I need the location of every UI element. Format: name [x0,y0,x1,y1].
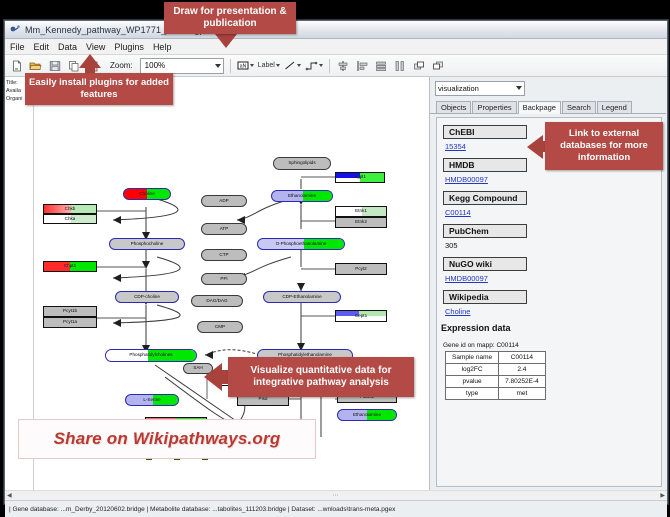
node-label: ATP [220,227,229,232]
gene-pcyt1b[interactable]: Pcyt1b [43,306,97,317]
zoom-combobox[interactable]: 100% [140,58,224,74]
node-o-phosphoethanolamine[interactable]: O-Phosphoethanolamine [257,238,345,250]
table-row: log2FC 2.4 [446,364,546,376]
db-block-kegg: Kegg Compound C00114 [443,188,661,217]
menu-item-plugins[interactable]: Plugins [114,42,144,52]
distribute-icon[interactable] [393,58,408,73]
node-cdp-choline[interactable]: CDP-choline [115,291,179,303]
menu-item-data[interactable]: Data [58,42,77,52]
node-ppi[interactable]: PPi [201,273,247,285]
node-label: CDP-choline [134,295,160,300]
node-label: CDP-Ethanolamine [282,295,321,300]
callout-external-links: Link to external databases for more info… [545,122,663,170]
db-block-nugo: NuGO wiki HMDB00097 [443,254,661,283]
node-atp[interactable]: ATP [201,223,247,235]
row-key: Sample name [446,352,499,364]
chevron-down-icon[interactable] [319,64,323,67]
menu-bar: File Edit Data View Plugins Help [5,39,667,55]
db-link-hmdb[interactable]: HMDB00097 [445,175,661,184]
db-value-pubchem: 305 [445,241,661,250]
chevron-down-icon[interactable] [516,86,522,90]
table-row: Sample name C00114 [446,352,546,364]
node-label: Pcyt1b [63,309,77,314]
callout-text: Easily install plugins for added feature… [25,77,173,101]
node-label: Pcyt2 [355,267,367,272]
db-heading: Wikipedia [443,290,527,304]
node-sphingolipids[interactable]: Sphingolipids [273,157,331,170]
menu-item-help[interactable]: Help [153,42,172,52]
callout-text: Share on Wikipathways.org [54,429,281,449]
gene-cept1[interactable]: Cept1 [335,310,387,322]
db-block-pubchem: PubChem 305 [443,221,661,250]
db-heading: PubChem [443,224,527,238]
db-link-nugo[interactable]: HMDB00097 [445,274,661,283]
gene-id-on-mapp: Gene id on mapp: C00114 [443,342,661,349]
callout-install-plugins: Easily install plugins for added feature… [25,73,173,105]
gene-pcyt2[interactable]: Pcyt2 [335,263,387,275]
node-label: Etnk2 [355,220,367,225]
send-back-icon[interactable] [431,58,446,73]
gene-etnk2[interactable]: Etnk2 [335,217,387,228]
chevron-down-icon[interactable] [250,64,254,67]
toolbar-separator [329,59,330,73]
db-heading: Kegg Compound [443,191,527,205]
node-label: ADP [219,199,228,204]
node-l-serine-mid[interactable]: L-Serine [125,394,179,406]
node-label: Chpt1 [64,264,76,269]
line-icon[interactable] [284,60,301,71]
bring-front-icon[interactable] [412,58,427,73]
node-label: Chka [65,217,76,222]
tab-legend[interactable]: Legend [597,101,632,113]
row-value: 7.80252E-4 [499,376,546,388]
node-label: Ethanolamine [288,194,316,199]
row-key: log2FC [446,364,499,376]
callout-share-wikipathways: Share on Wikipathways.org [18,419,316,459]
scroll-right-arrow[interactable]: ▶ [660,492,665,499]
gene-etnk1[interactable]: Etnk1 [335,206,387,217]
title-bar: Mm_Kennedy_pathway_WP1771_45176.gpml [5,21,667,39]
db-link-kegg[interactable]: C00114 [445,208,661,217]
chevron-down-icon[interactable] [297,64,301,67]
menu-item-edit[interactable]: Edit [34,42,50,52]
node-label: CMP [215,325,225,330]
node-label: Sgpl1 [354,175,366,180]
panel-tabs: Objects Properties Backpage Search Legen… [430,99,666,114]
gene-chkb[interactable]: Chkb [43,204,97,214]
node-label: Ethanolamine [353,413,381,418]
gene-pcyt1a[interactable]: Pcyt1a [43,317,97,328]
db-block-wikipedia: Wikipedia Choline [443,287,661,316]
save-icon[interactable] [47,58,62,73]
callout-draw-for-presentation: Draw for presentation & publication [164,2,296,34]
label-title: Title: [6,79,23,87]
node-cdp-ethanolamine[interactable]: CDP-Ethanolamine [263,291,341,303]
scroll-left-arrow[interactable]: ◀ [7,492,12,499]
node-label: Sphingolipids [288,161,315,166]
expression-data-heading: Expression data [441,323,661,333]
node-label: Pisd [259,397,268,402]
zoom-value: 100% [143,61,165,70]
callout-text: Link to external databases for more info… [545,128,663,164]
node-label: Chkb [65,207,76,212]
new-file-icon[interactable] [9,58,24,73]
node-ethanolamine-top[interactable]: Ethanolamine [271,190,333,202]
callout-text: Draw for presentation & publication [164,6,296,31]
db-heading: ChEBI [443,125,527,139]
node-label: O-Phosphoethanolamine [276,242,327,247]
backpage-content: ChEBI 15354 HMDB HMDB00097 Kegg Compound… [436,117,662,487]
node-ethanolamine-bottom[interactable]: Ethanolamine [337,409,397,421]
node-label: Cept1 [355,314,367,319]
chevron-down-icon[interactable] [215,64,221,68]
node-label: L-Serine [143,398,160,403]
node-ctp[interactable]: CTP [201,249,247,261]
node-label: Pcyt1a [63,320,77,325]
status-bar-text: | Gene database: ...m_Derby_20120602.bri… [9,506,395,513]
node-label: Phosphocholine [131,242,164,247]
row-value: C00114 [499,352,546,364]
screenshot-root: Mm_Kennedy_pathway_WP1771_45176.gpml Fil… [0,0,670,509]
stack-icon[interactable] [374,58,389,73]
label-icon[interactable]: Label [258,62,280,69]
open-folder-icon[interactable] [28,58,43,73]
gene-sgpl1[interactable]: Sgpl1 [335,172,385,183]
node-label: PPi [220,277,227,282]
label-button-text: Label [258,62,275,69]
row-value: met [499,388,546,400]
row-key: type [446,388,499,400]
node-label: SAH [193,366,202,371]
expression-table: Sample name C00114 log2FC 2.4 pvalue 7.8… [445,351,546,400]
node-dag[interactable]: DAG/DAG [191,295,243,307]
db-heading: HMDB [443,158,527,172]
node-cmp[interactable]: CMP [197,321,243,333]
tab-search[interactable]: Search [562,101,596,113]
db-heading: NuGO wiki [443,257,527,271]
label-organism: Organi [6,95,23,103]
chevron-down-icon[interactable] [276,64,280,67]
app-icon [9,24,20,35]
svg-text:aN: aN [239,64,246,70]
node-phosphocholine[interactable]: Phosphocholine [109,238,185,250]
scroll-thumb[interactable]: ⋯ [333,492,340,499]
node-label: CTP [219,253,228,258]
node-label: DAG/DAG [206,299,227,304]
node-label: Etnk1 [355,209,367,214]
menu-item-file[interactable]: File [10,42,25,52]
callout-text: Visualize quantitative data for integrat… [228,365,414,390]
table-row: type met [446,388,546,400]
node-label: Phosphatidylcholines [129,353,172,358]
db-link-wikipedia[interactable]: Choline [445,307,661,316]
node-adp[interactable]: ADP [201,195,247,207]
callout-visualize-data: Visualize quantitative data for integrat… [228,357,414,397]
node-label: Choline [139,192,155,197]
connector-icon[interactable] [305,60,323,71]
label-availability: Availa [6,87,23,95]
visualization-row: visualization [430,77,666,99]
gene-chpt1[interactable]: Chpt1 [43,261,97,272]
tab-properties[interactable]: Properties [472,101,516,113]
visualization-select[interactable]: visualization [435,81,525,96]
horizontal-scrollbar[interactable]: ◀ ⋯ ▶ [5,490,667,500]
node-phosphatidylcholines[interactable]: Phosphatidylcholines [105,349,197,362]
datanode-icon[interactable]: aN [237,60,254,71]
visualization-value: visualization [438,84,479,93]
row-value: 2.4 [499,364,546,376]
align-center-icon[interactable] [336,58,351,73]
node-choline-top[interactable]: Choline [123,188,171,200]
tab-objects[interactable]: Objects [436,101,471,113]
table-row: pvalue 7.80252E-4 [446,376,546,388]
zoom-label: Zoom: [110,61,133,70]
tab-backpage[interactable]: Backpage [518,101,561,114]
menu-item-view[interactable]: View [86,42,105,52]
row-key: pvalue [446,376,499,388]
toolbar-separator [230,59,231,73]
align-left-icon[interactable] [355,58,370,73]
canvas-left-labels: Title: Availa Organi [6,79,23,103]
gene-chka[interactable]: Chka [43,214,97,224]
